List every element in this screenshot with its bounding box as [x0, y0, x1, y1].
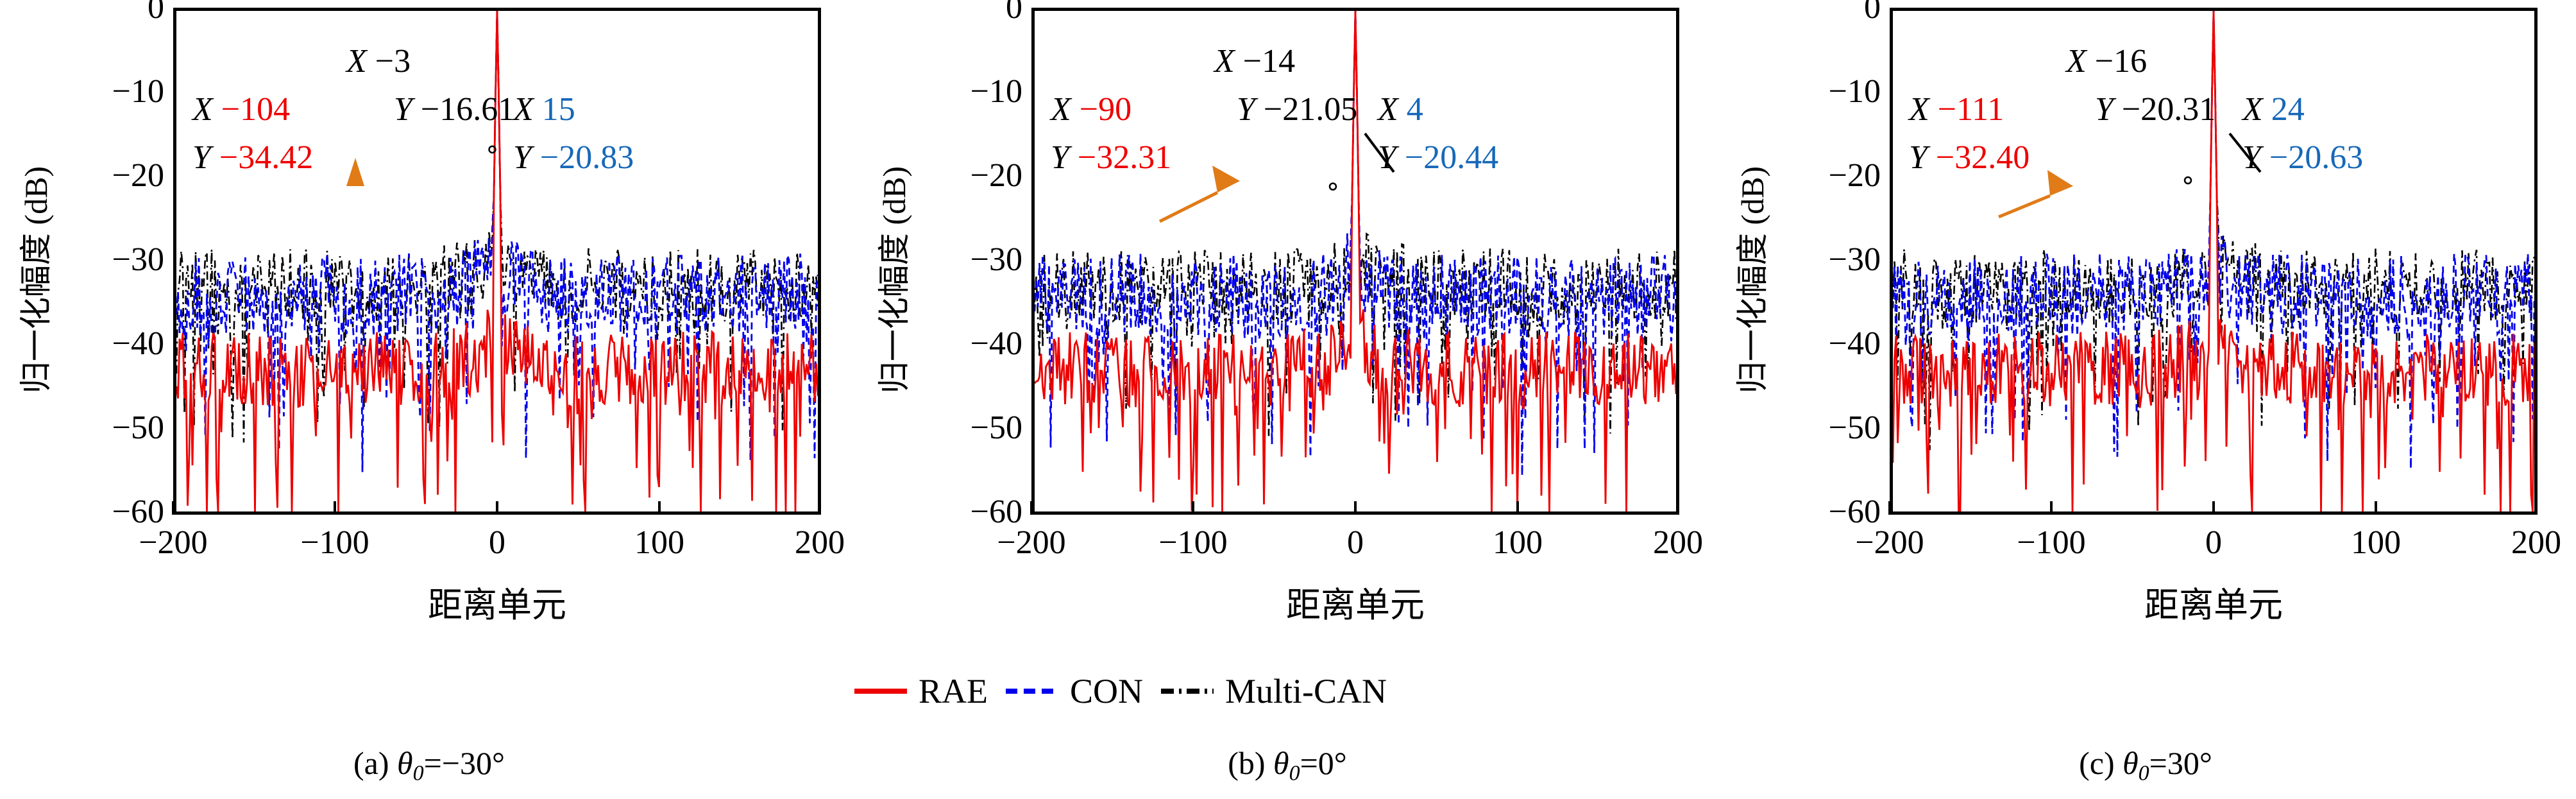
x-tick-label: −100 — [264, 526, 405, 560]
annotation-x-label: X — [1909, 91, 1929, 128]
annotation-y-value: −20.44 — [1405, 139, 1498, 176]
annotation-red-y-b: Y −32.31 — [1051, 140, 1171, 176]
annotation-y-label: Y — [1909, 139, 1928, 176]
annotation-blue-x-a: X 15 — [513, 92, 575, 128]
subcaption-subscript: 0 — [1289, 762, 1300, 786]
annotation-x-value: 15 — [542, 91, 575, 128]
legend-label: Multi-CAN — [1225, 671, 1387, 711]
annotation-y-label: Y — [1051, 139, 1069, 176]
y-axis-label-a: 归一化幅度 (dB) — [10, 74, 56, 485]
annotation-x-label: X — [192, 91, 213, 128]
x-tick-mark — [496, 501, 498, 515]
series-con — [1035, 11, 1676, 476]
annotation-black-y-b: Y −21.05 — [1237, 92, 1357, 128]
x-tick-mark — [2375, 501, 2377, 515]
marked-point-multi-can — [2185, 177, 2191, 184]
annotation-y-label: Y — [192, 139, 211, 176]
plot-area-c — [1890, 8, 2538, 515]
plot-svg-a — [176, 11, 818, 511]
legend: RAE CON Multi-CAN — [853, 669, 1725, 714]
annotation-blue-x-c: X 24 — [2242, 92, 2305, 128]
plot-svg-b — [1035, 11, 1676, 511]
plot-area-b — [1031, 8, 1679, 515]
x-tick-label: 0 — [2143, 526, 2284, 560]
annotation-y-value: −34.42 — [219, 139, 313, 176]
annotation-y-value: −20.31 — [2122, 91, 2216, 128]
legend-swatch-dashed-icon — [1004, 685, 1060, 698]
subcaption-value: =30° — [2149, 745, 2212, 781]
x-tick-mark — [172, 501, 174, 515]
annotation-x-value: 24 — [2271, 91, 2305, 128]
subcaption-b: (b) θ0=0° — [858, 744, 1716, 786]
annotation-x-value: −104 — [221, 91, 290, 128]
x-tick-label: 100 — [2305, 526, 2446, 560]
annotation-x-label: X — [513, 91, 534, 128]
annotation-black-peak-a: X −3 — [346, 44, 411, 80]
annotation-x-value: −14 — [1243, 43, 1295, 80]
annotation-black-y-c: Y −20.31 — [2095, 92, 2216, 128]
annotation-x-label: X — [2242, 91, 2263, 128]
subcaption-variable: θ — [397, 745, 413, 781]
subcaption-prefix: (c) — [2079, 745, 2115, 781]
annotation-x-value: −111 — [1938, 91, 2004, 128]
x-tick-label: 0 — [1285, 526, 1426, 560]
x-tick-label: 100 — [1447, 526, 1588, 560]
annotation-red-y-a: Y −34.42 — [192, 140, 313, 176]
annotation-black-peak-b: X −14 — [1214, 44, 1295, 80]
annotation-x-value: 4 — [1407, 91, 1423, 128]
x-tick-label: 100 — [589, 526, 730, 560]
subcaption-prefix: (a) — [353, 745, 389, 781]
annotation-blue-y-b: Y −20.44 — [1378, 140, 1498, 176]
annotation-y-value: −20.63 — [2269, 139, 2363, 176]
annotation-y-label: Y — [1237, 91, 1255, 128]
y-tick-label: 0 — [30, 0, 164, 24]
subcaption-value: =−30° — [424, 745, 505, 781]
annotation-x-value: −3 — [375, 43, 411, 80]
x-tick-label: −200 — [1819, 526, 1960, 560]
annotation-red-x-c: X −111 — [1909, 92, 2004, 128]
x-tick-label: 200 — [2466, 526, 2576, 560]
legend-label: CON — [1070, 671, 1143, 711]
plot-area-a — [173, 8, 821, 515]
annotation-x-label: X — [1051, 91, 1071, 128]
x-axis-label-c: 距离单元 — [1890, 576, 2538, 627]
panel-a: 归一化幅度 (dB) 0 −10 −20 −30 −40 −50 −60 −20… — [0, 0, 858, 799]
annotation-y-value: −20.83 — [540, 139, 634, 176]
series-rae — [1035, 11, 1676, 511]
x-tick-mark — [1354, 501, 1357, 515]
x-tick-mark — [2535, 501, 2538, 515]
legend-item-multi-can: Multi-CAN — [1160, 671, 1387, 711]
x-tick-label: −200 — [103, 526, 244, 560]
y-axis-label-b: 归一化幅度 (dB) — [869, 74, 915, 485]
x-tick-label: 0 — [427, 526, 568, 560]
subcaption-value: =0° — [1300, 745, 1347, 781]
legend-item-rae: RAE — [853, 671, 988, 711]
series-rae — [176, 11, 818, 511]
legend-swatch-dashdot-icon — [1160, 685, 1215, 698]
subcaption-subscript: 0 — [2139, 762, 2149, 786]
plot-svg-c — [1893, 11, 2534, 511]
annotation-blue-y-a: Y −20.83 — [513, 140, 634, 176]
subcaption-c: (c) θ0=30° — [1716, 744, 2575, 786]
annotation-red-x-a: X −104 — [192, 92, 290, 128]
annotation-y-label: Y — [1378, 139, 1396, 176]
x-tick-mark — [2050, 501, 2053, 515]
series-rae — [1893, 11, 2534, 511]
annotation-x-label: X — [1214, 43, 1235, 80]
subcaption-prefix: (b) — [1228, 745, 1265, 781]
annotation-y-label: Y — [2242, 139, 2261, 176]
x-tick-label: −100 — [1123, 526, 1264, 560]
subcaption-variable: θ — [2123, 745, 2139, 781]
annotation-y-value: −16.61 — [421, 91, 514, 128]
x-tick-mark — [2212, 501, 2215, 515]
annotation-black-y-a: Y −16.61 — [394, 92, 514, 128]
annotation-y-value: −32.40 — [1936, 139, 2029, 176]
marked-point-multi-can — [1330, 184, 1336, 190]
annotation-y-value: −32.31 — [1078, 139, 1171, 176]
y-tick-label: 0 — [1746, 0, 1881, 24]
annotation-black-peak-c: X −16 — [2066, 44, 2147, 80]
y-tick-label: 0 — [888, 0, 1022, 24]
annotation-x-value: −90 — [1080, 91, 1131, 128]
annotation-blue-y-c: Y −20.63 — [2242, 140, 2363, 176]
x-tick-mark — [1516, 501, 1519, 515]
annotation-x-label: X — [1378, 91, 1398, 128]
annotation-x-value: −16 — [2095, 43, 2147, 80]
annotation-x-label: X — [2066, 43, 2087, 80]
legend-label: RAE — [919, 671, 988, 711]
annotation-x-label: X — [346, 43, 367, 80]
annotation-red-y-c: Y −32.40 — [1909, 140, 2029, 176]
x-tick-mark — [1677, 501, 1679, 515]
annotation-y-label: Y — [2095, 91, 2114, 128]
legend-swatch-solid-icon — [853, 685, 908, 698]
subcaption-subscript: 0 — [413, 762, 424, 786]
subcaption-a: (a) θ0=−30° — [0, 744, 858, 786]
x-tick-mark — [658, 501, 661, 515]
x-tick-mark — [1888, 501, 1891, 515]
annotation-y-label: Y — [513, 139, 532, 176]
x-axis-label-b: 距离单元 — [1031, 576, 1679, 627]
y-axis-label-c: 归一化幅度 (dB) — [1727, 74, 1773, 485]
x-tick-mark — [1030, 501, 1033, 515]
x-axis-label-a: 距离单元 — [173, 576, 821, 627]
x-tick-mark — [1192, 501, 1194, 515]
legend-item-con: CON — [1004, 671, 1143, 711]
x-tick-label: −200 — [961, 526, 1102, 560]
figure-root: 归一化幅度 (dB) 0 −10 −20 −30 −40 −50 −60 −20… — [0, 0, 2576, 799]
annotation-blue-x-b: X 4 — [1378, 92, 1423, 128]
x-tick-mark — [818, 501, 821, 515]
panel-c: 归一化幅度 (dB) 0 −10 −20 −30 −40 −50 −60 −20… — [1716, 0, 2575, 799]
x-tick-label: −100 — [1981, 526, 2122, 560]
subcaption-variable: θ — [1273, 745, 1289, 781]
annotation-y-label: Y — [394, 91, 412, 128]
x-tick-mark — [334, 501, 336, 515]
annotation-red-x-b: X −90 — [1051, 92, 1131, 128]
annotation-y-value: −21.05 — [1264, 91, 1357, 128]
